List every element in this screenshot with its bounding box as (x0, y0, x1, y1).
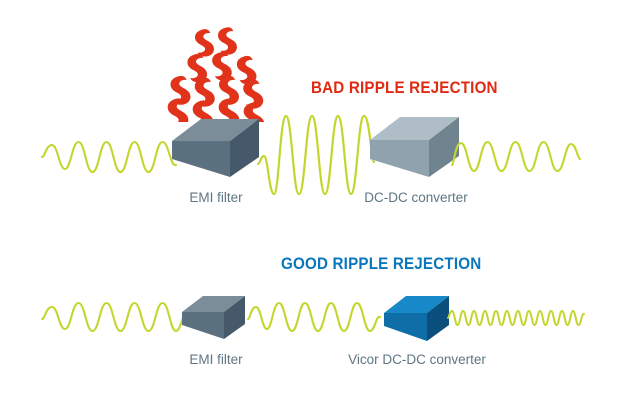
caption-dcdc-converter-bad: DC-DC converter (345, 190, 487, 205)
component-cube-vicor-converter (382, 294, 452, 356)
heat-waves-icon (164, 26, 270, 122)
waveform-bad-intermediate (258, 110, 376, 200)
caption-vicor-converter: Vicor DC-DC converter (328, 352, 506, 367)
component-cube-emi-filter-bad (170, 117, 262, 195)
waveform-bad-output (452, 133, 584, 181)
diagram-canvas: BAD RIPPLE REJECTION EMI filter DC-DC c (0, 0, 622, 415)
waveform-good-output (448, 300, 588, 336)
caption-emi-filter-good: EMI filter (156, 352, 276, 367)
section-title-good: GOOD RIPPLE REJECTION (281, 255, 481, 274)
section-title-bad: BAD RIPPLE REJECTION (311, 79, 498, 98)
component-cube-emi-filter-good (180, 294, 248, 354)
waveform-bad-input (42, 133, 182, 181)
waveform-good-intermediate (248, 293, 384, 341)
waveform-good-input (42, 293, 190, 341)
component-cube-dcdc-converter-bad (368, 115, 462, 195)
